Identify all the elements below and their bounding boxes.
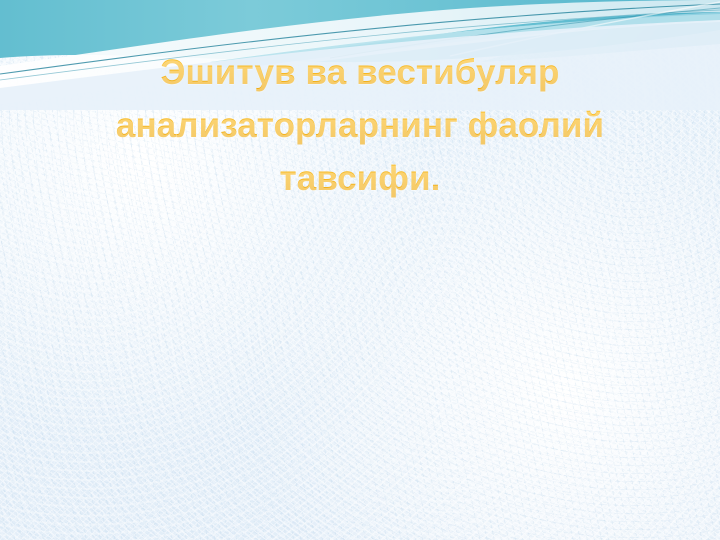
slide-canvas: Эшитув ва вестибуляр анализаторларнинг ф… <box>0 0 720 540</box>
title-line-3: тавсифи. <box>44 152 676 205</box>
slide-title: Эшитув ва вестибуляр анализаторларнинг ф… <box>44 46 676 205</box>
title-line-2: анализаторларнинг фаолий <box>44 99 676 152</box>
title-line-1: Эшитув ва вестибуляр <box>44 46 676 99</box>
